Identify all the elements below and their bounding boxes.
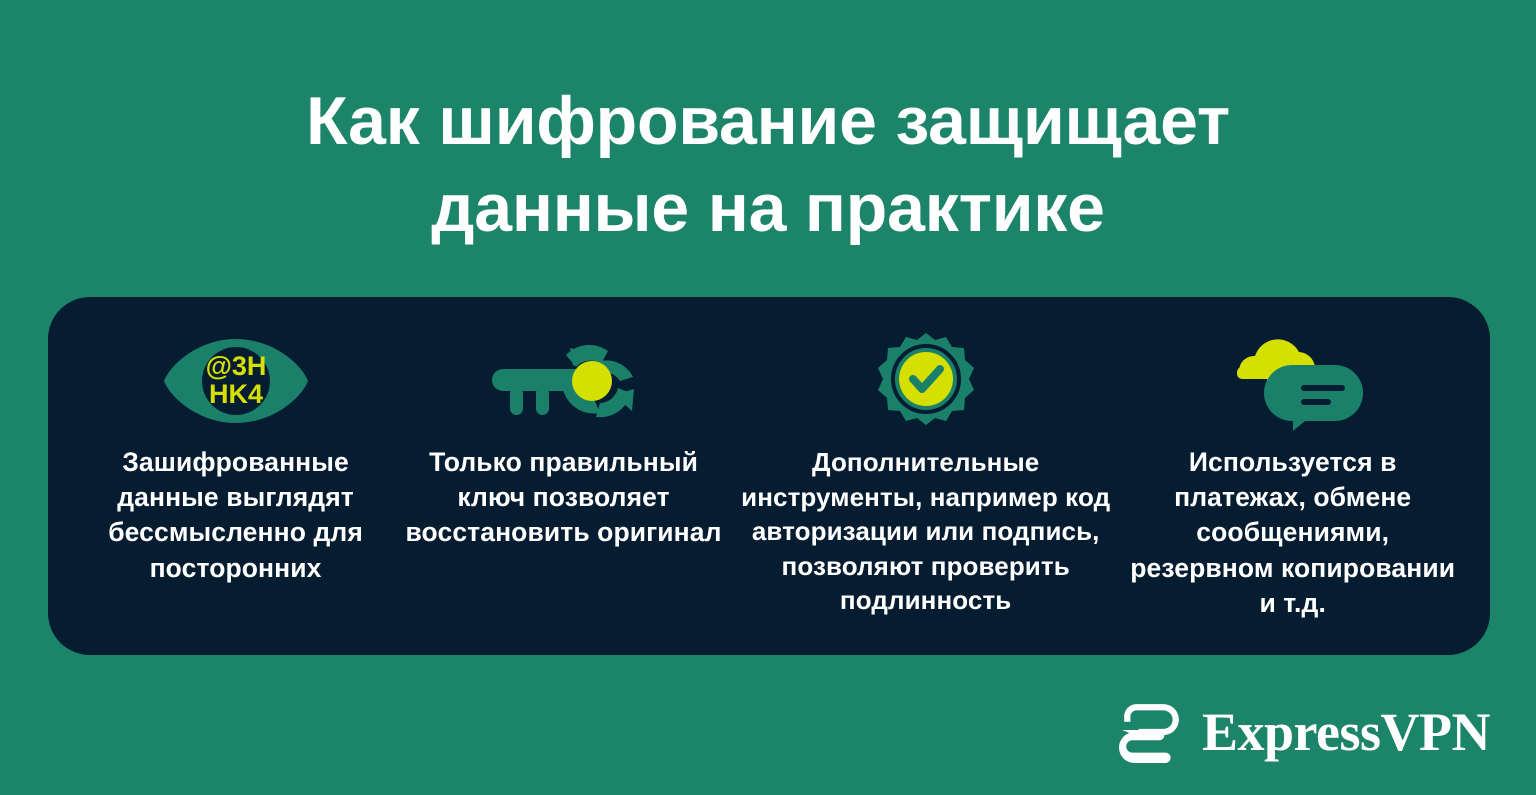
brand-wordmark: ExpressVPN xyxy=(1202,705,1490,759)
feature-text-1: Зашифрованные данные выглядят бессмыслен… xyxy=(80,445,391,586)
feature-column-4: Используется в платежах, обмене сообщени… xyxy=(1121,333,1464,621)
icon-slot xyxy=(878,333,974,429)
icon-slot: @3H HK4 xyxy=(162,333,310,429)
icon-slot xyxy=(488,333,640,429)
expressvpn-e-logo-icon xyxy=(1118,699,1184,765)
feature-column-1: @3H HK4 Зашифрованные данные выглядят бе… xyxy=(74,333,397,586)
cipher-text-bottom: HK4 xyxy=(209,379,263,409)
title-line-2: данные на практике xyxy=(180,165,1356,252)
infographic-poster: Как шифрование защищает данные на практи… xyxy=(0,0,1536,795)
features-card: @3H HK4 Зашифрованные данные выглядят бе… xyxy=(48,297,1490,655)
key-refresh-icon xyxy=(488,333,640,429)
feature-text-4: Используется в платежах, обмене сообщени… xyxy=(1127,445,1458,621)
expressvpn-logo: ExpressVPN xyxy=(1118,699,1490,765)
feature-text-3: Дополнительные инструменты, например код… xyxy=(732,445,1119,618)
cloud-upload-chat-icon xyxy=(1223,331,1363,431)
verified-badge-icon xyxy=(878,333,974,429)
encrypted-eye-icon: @3H HK4 xyxy=(162,335,310,427)
feature-column-3: Дополнительные инструменты, например код… xyxy=(730,333,1121,618)
feature-text-2: Только правильный ключ позволяет восстан… xyxy=(403,445,724,551)
icon-slot xyxy=(1223,333,1363,429)
cipher-text-top: @3H xyxy=(205,351,266,381)
page-title: Как шифрование защищает данные на практи… xyxy=(0,78,1536,252)
feature-column-2: Только правильный ключ позволяет восстан… xyxy=(397,333,730,551)
title-line-1: Как шифрование защищает xyxy=(180,78,1356,165)
